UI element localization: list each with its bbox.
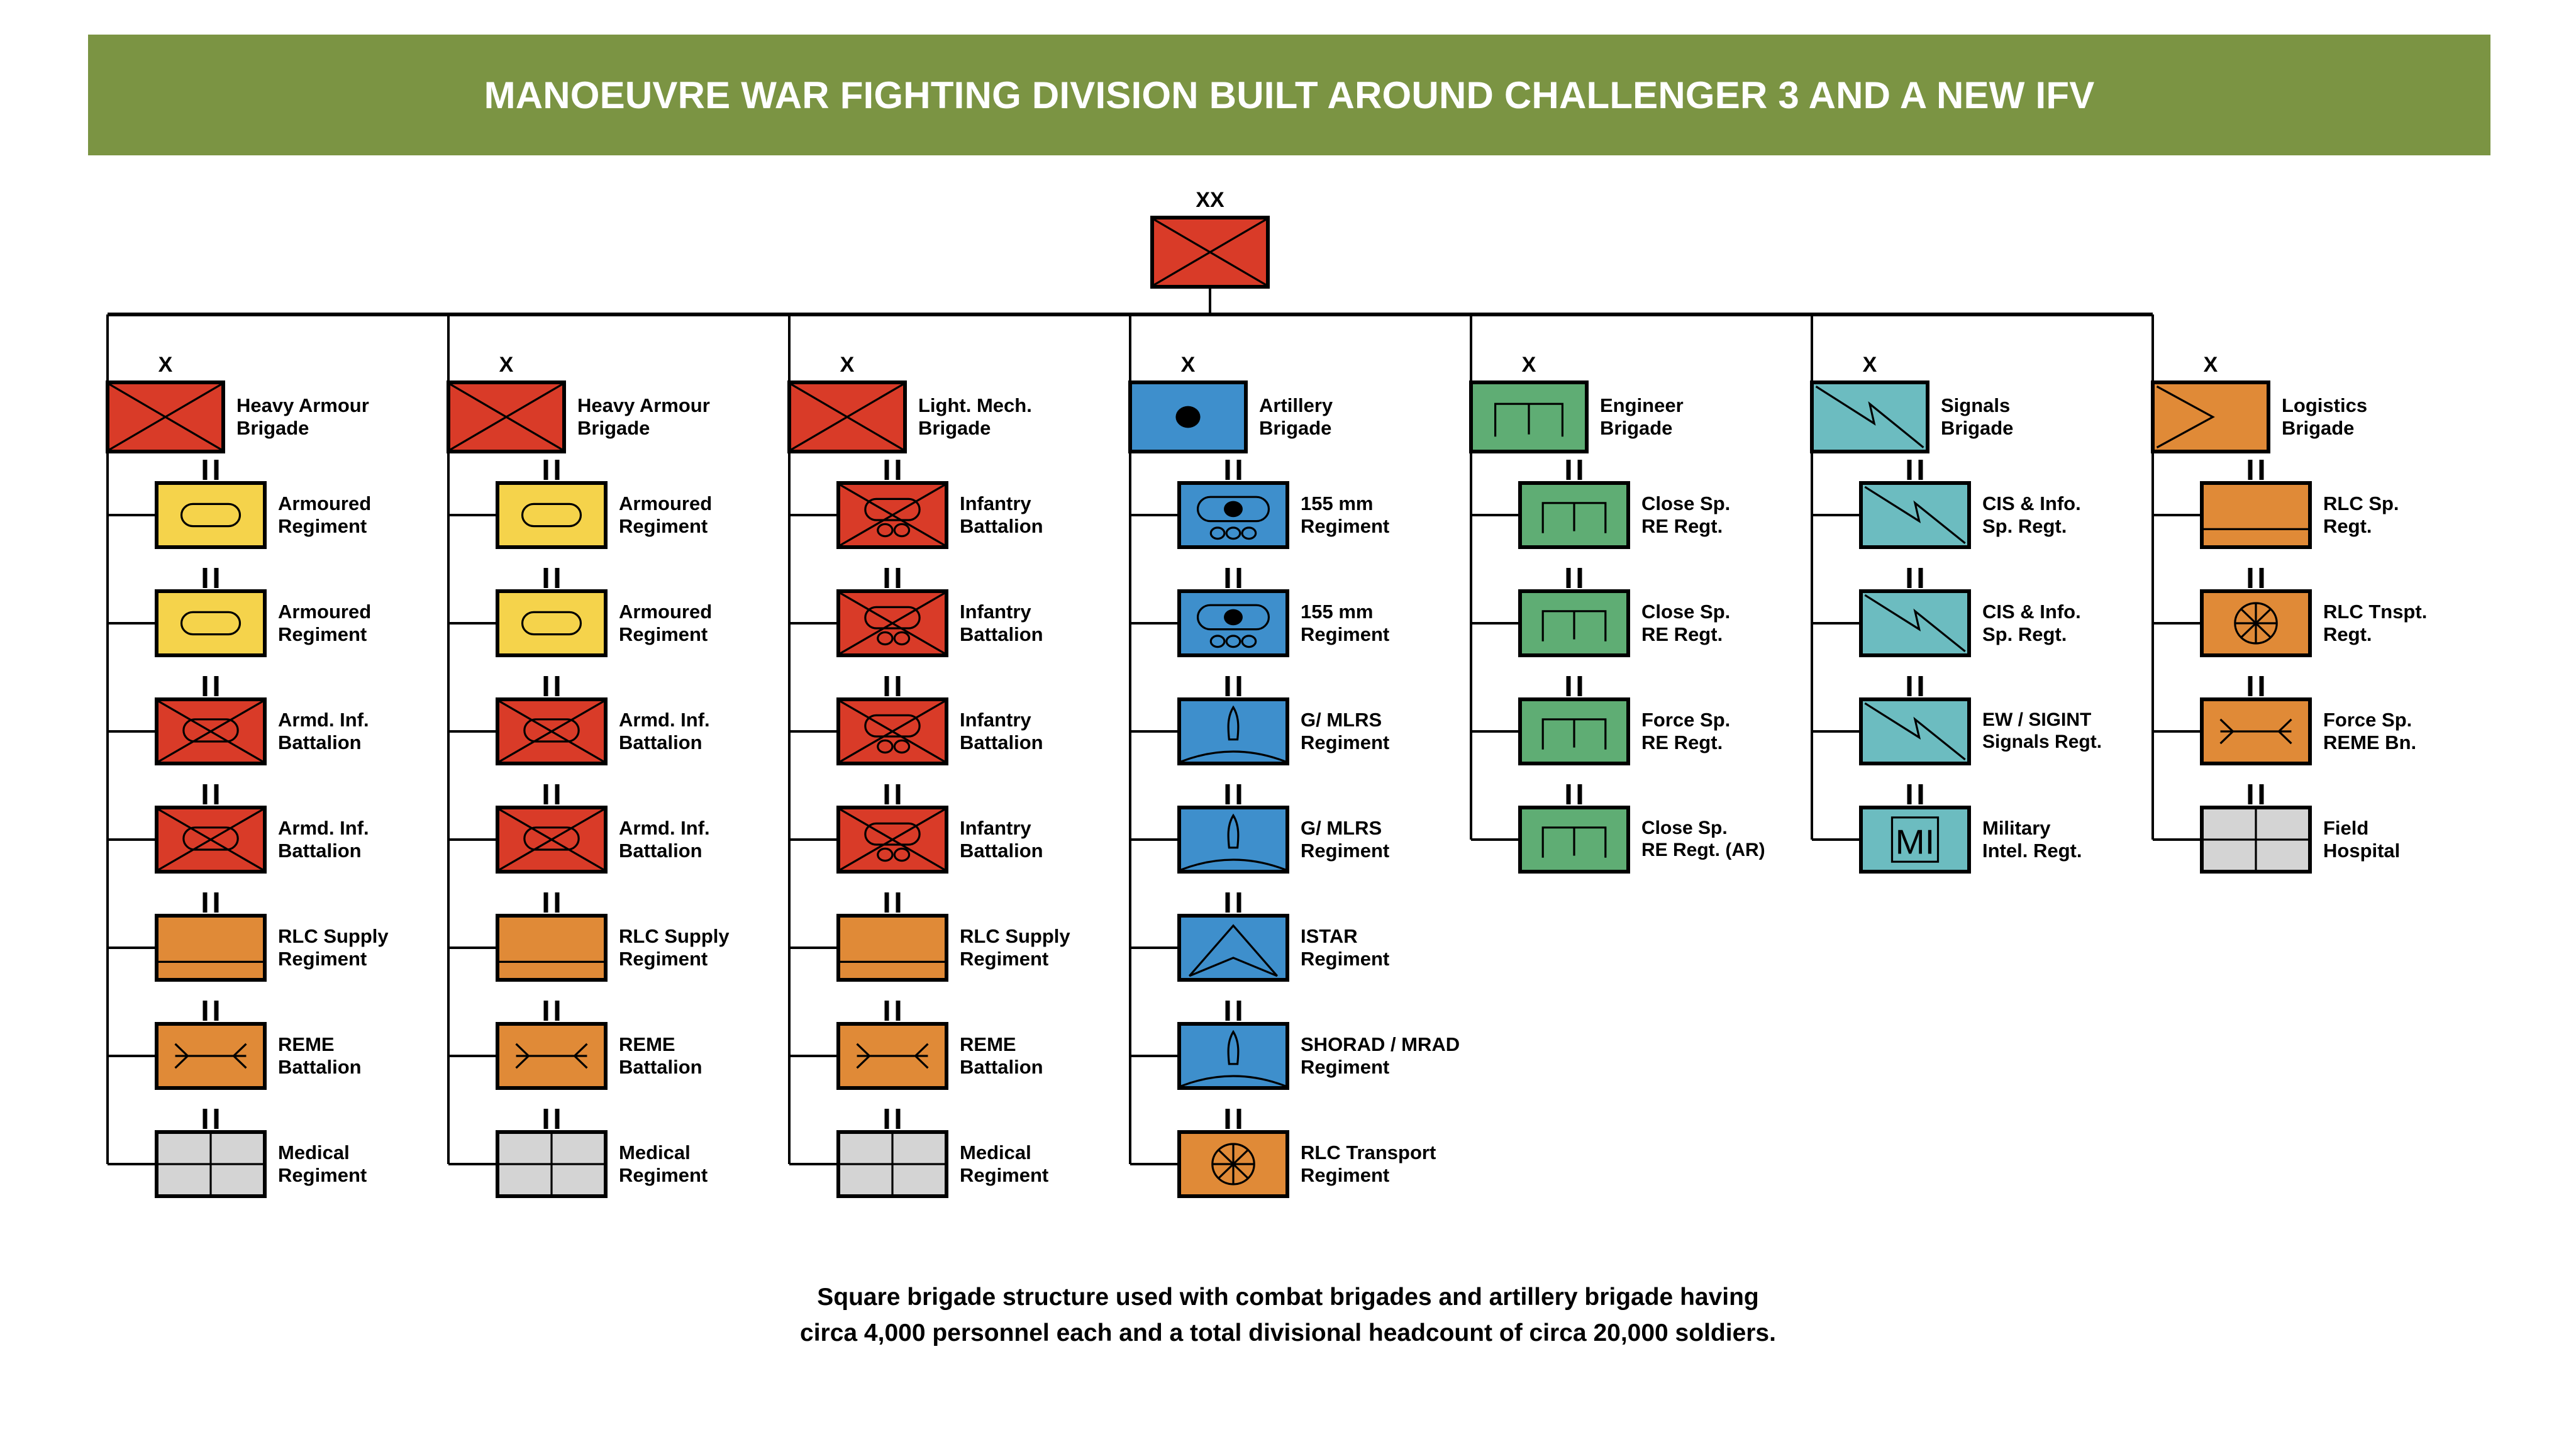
unit-2-4[interactable]: Armd. Inf.Battalion — [496, 806, 608, 874]
maintenance-icon — [496, 1022, 608, 1090]
unit-3-3[interactable]: InfantryBattalion — [836, 697, 948, 765]
svg-text:MI: MI — [1896, 823, 1935, 861]
echelon-marker-xx: XX — [1150, 189, 1270, 211]
mech-inf-wheel-icon — [836, 589, 948, 657]
unit-4-7[interactable]: RLC TransportRegiment — [1177, 1130, 1289, 1198]
unit-2-3-label: Armd. Inf.Battalion — [619, 709, 710, 754]
engineer-icon — [1518, 697, 1630, 765]
unit-7-1[interactable]: RLC Sp.Regt. — [2200, 481, 2312, 549]
unit-1-7[interactable]: MedicalRegiment — [155, 1130, 267, 1198]
echelon-bars-battalion — [2248, 568, 2264, 588]
brigade-header-5-label: EngineerBrigade — [1600, 394, 1684, 440]
brigade-header-6-label: SignalsBrigade — [1941, 394, 2013, 440]
echelon-bars-battalion — [1226, 892, 1241, 913]
unit-4-6-label: SHORAD / MRADRegiment — [1301, 1033, 1460, 1079]
division-headquarters[interactable]: XX — [1150, 216, 1270, 289]
rocket-icon — [1177, 1022, 1289, 1090]
unit-5-3[interactable]: Force Sp.RE Regt. — [1518, 697, 1630, 765]
mech-inf-wheel-icon — [836, 481, 948, 549]
armour-track-icon — [496, 589, 608, 657]
echelon-bars-battalion — [1226, 1001, 1241, 1021]
brigade-header-3[interactable]: XLight. Mech.Brigade — [787, 380, 907, 453]
unit-1-5[interactable]: RLC SupplyRegiment — [155, 914, 267, 982]
unit-3-6[interactable]: REMEBattalion — [836, 1022, 948, 1090]
echelon-bars-battalion — [203, 568, 219, 588]
brigade-header-6[interactable]: XSignalsBrigade — [1810, 380, 1929, 453]
unit-5-2[interactable]: Close Sp.RE Regt. — [1518, 589, 1630, 657]
unit-3-3-label: InfantryBattalion — [960, 709, 1043, 754]
echelon-bars-battalion — [885, 460, 901, 480]
echelon-bars-battalion — [203, 892, 219, 913]
unit-3-6-label: REMEBattalion — [960, 1033, 1043, 1079]
echelon-bars-battalion — [1907, 568, 1923, 588]
unit-7-1-label: RLC Sp.Regt. — [2323, 492, 2399, 538]
maintenance-icon — [836, 1022, 948, 1090]
org-chart: XXXHeavy ArmourBrigadeArmouredRegimentAr… — [0, 0, 2576, 1449]
unit-2-5[interactable]: RLC SupplyRegiment — [496, 914, 608, 982]
medical-icon — [496, 1130, 608, 1198]
echelon-bars-battalion — [1567, 676, 1582, 696]
armour-cross-icon — [447, 380, 566, 453]
unit-6-2-label: CIS & Info.Sp. Regt. — [1982, 601, 2081, 646]
unit-3-1[interactable]: InfantryBattalion — [836, 481, 948, 549]
armour-track-icon — [155, 481, 267, 549]
unit-3-5[interactable]: RLC SupplyRegiment — [836, 914, 948, 982]
brigade-header-1-label: Heavy ArmourBrigade — [236, 394, 369, 440]
echelon-bars-battalion — [203, 676, 219, 696]
armd-inf-icon — [155, 806, 267, 874]
unit-4-4-label: G/ MLRSRegiment — [1301, 817, 1389, 862]
unit-4-5[interactable]: ISTARRegiment — [1177, 914, 1289, 982]
engineer-icon — [1469, 380, 1589, 453]
unit-2-1[interactable]: ArmouredRegiment — [496, 481, 608, 549]
armour-cross-icon — [1150, 216, 1270, 289]
unit-6-1[interactable]: CIS & Info.Sp. Regt. — [1859, 481, 1971, 549]
brigade-header-4-label: ArtilleryBrigade — [1259, 394, 1333, 440]
brigade-header-5[interactable]: XEngineerBrigade — [1469, 380, 1589, 453]
unit-7-2-label: RLC Tnspt.Regt. — [2323, 601, 2427, 646]
echelon-marker-x: X — [787, 354, 907, 375]
brigade-header-1[interactable]: XHeavy ArmourBrigade — [106, 380, 225, 453]
unit-2-1-label: ArmouredRegiment — [619, 492, 712, 538]
unit-2-3[interactable]: Armd. Inf.Battalion — [496, 697, 608, 765]
brigade-header-7-label: LogisticsBrigade — [2282, 394, 2367, 440]
unit-5-1[interactable]: Close Sp.RE Regt. — [1518, 481, 1630, 549]
unit-6-4[interactable]: MIMilitaryIntel. Regt. — [1859, 806, 1971, 874]
echelon-bars-battalion — [1907, 784, 1923, 804]
unit-4-2-label: 155 mmRegiment — [1301, 601, 1389, 646]
supply-icon — [496, 914, 608, 982]
unit-1-4-label: Armd. Inf.Battalion — [278, 817, 369, 862]
echelon-bars-battalion — [1226, 568, 1241, 588]
unit-2-6[interactable]: REMEBattalion — [496, 1022, 608, 1090]
echelon-bars-battalion — [544, 1001, 560, 1021]
medical-icon — [2200, 806, 2312, 874]
unit-1-2-label: ArmouredRegiment — [278, 601, 371, 646]
unit-7-4-label: FieldHospital — [2323, 817, 2400, 862]
supply-icon — [2200, 481, 2312, 549]
echelon-bars-battalion — [203, 784, 219, 804]
unit-6-3[interactable]: EW / SIGINTSignals Regt. — [1859, 697, 1971, 765]
engineer-icon — [1518, 806, 1630, 874]
unit-4-4[interactable]: G/ MLRSRegiment — [1177, 806, 1289, 874]
signals-bolt-icon — [1859, 589, 1971, 657]
echelon-bars-battalion — [885, 1001, 901, 1021]
echelon-bars-battalion — [544, 784, 560, 804]
unit-1-5-label: RLC SupplyRegiment — [278, 925, 389, 970]
unit-6-2[interactable]: CIS & Info.Sp. Regt. — [1859, 589, 1971, 657]
sp-howitzer-icon — [1177, 589, 1289, 657]
unit-4-5-label: ISTARRegiment — [1301, 925, 1389, 970]
mil-intel-icon: MI — [1859, 806, 1971, 874]
signals-bolt-icon — [1859, 481, 1971, 549]
echelon-bars-battalion — [1907, 676, 1923, 696]
transport-wheel-icon — [2200, 589, 2312, 657]
echelon-bars-battalion — [544, 568, 560, 588]
unit-1-4[interactable]: Armd. Inf.Battalion — [155, 806, 267, 874]
echelon-bars-battalion — [1567, 568, 1582, 588]
armd-inf-icon — [496, 806, 608, 874]
unit-6-1-label: CIS & Info.Sp. Regt. — [1982, 492, 2081, 538]
armour-track-icon — [155, 589, 267, 657]
unit-2-7[interactable]: MedicalRegiment — [496, 1130, 608, 1198]
echelon-bars-battalion — [1567, 784, 1582, 804]
unit-4-1-label: 155 mmRegiment — [1301, 492, 1389, 538]
footer-line-2: circa 4,000 personnel each and a total d… — [0, 1316, 2576, 1352]
unit-4-3[interactable]: G/ MLRSRegiment — [1177, 697, 1289, 765]
armd-inf-icon — [155, 697, 267, 765]
unit-7-3[interactable]: Force Sp.REME Bn. — [2200, 697, 2312, 765]
unit-5-3-label: Force Sp.RE Regt. — [1641, 709, 1730, 754]
unit-3-5-label: RLC SupplyRegiment — [960, 925, 1070, 970]
unit-5-4-label: Close Sp.RE Regt. (AR) — [1641, 818, 1765, 862]
unit-3-1-label: InfantryBattalion — [960, 492, 1043, 538]
artillery-dot-icon — [1128, 380, 1248, 453]
echelon-marker-x: X — [106, 354, 225, 375]
mech-inf-wheel-icon — [836, 697, 948, 765]
echelon-marker-x: X — [1469, 354, 1589, 375]
sp-howitzer-icon — [1177, 481, 1289, 549]
echelon-bars-battalion — [885, 784, 901, 804]
echelon-bars-battalion — [203, 460, 219, 480]
engineer-icon — [1518, 589, 1630, 657]
unit-3-4-label: InfantryBattalion — [960, 817, 1043, 862]
medical-icon — [155, 1130, 267, 1198]
echelon-bars-battalion — [1226, 1109, 1241, 1129]
unit-1-1[interactable]: ArmouredRegiment — [155, 481, 267, 549]
brigade-header-2[interactable]: XHeavy ArmourBrigade — [447, 380, 566, 453]
signals-bolt-icon — [1859, 697, 1971, 765]
echelon-bars-battalion — [2248, 784, 2264, 804]
echelon-marker-x: X — [1128, 354, 1248, 375]
istar-chevron-icon — [1177, 914, 1289, 982]
brigade-header-3-label: Light. Mech.Brigade — [918, 394, 1032, 440]
rocket-icon — [1177, 806, 1289, 874]
armour-cross-icon — [106, 380, 225, 453]
signals-bolt-icon — [1810, 380, 1929, 453]
echelon-bars-battalion — [1907, 460, 1923, 480]
brigade-header-2-label: Heavy ArmourBrigade — [577, 394, 710, 440]
unit-3-7[interactable]: MedicalRegiment — [836, 1130, 948, 1198]
echelon-bars-battalion — [1567, 460, 1582, 480]
medical-icon — [836, 1130, 948, 1198]
unit-3-4[interactable]: InfantryBattalion — [836, 806, 948, 874]
echelon-bars-battalion — [2248, 676, 2264, 696]
unit-6-3-label: EW / SIGINTSignals Regt. — [1982, 709, 2102, 753]
unit-1-7-label: MedicalRegiment — [278, 1141, 367, 1187]
echelon-bars-battalion — [203, 1001, 219, 1021]
echelon-bars-battalion — [2248, 460, 2264, 480]
unit-4-3-label: G/ MLRSRegiment — [1301, 709, 1389, 754]
unit-1-1-label: ArmouredRegiment — [278, 492, 371, 538]
echelon-bars-battalion — [544, 1109, 560, 1129]
unit-1-6[interactable]: REMEBattalion — [155, 1022, 267, 1090]
unit-2-2[interactable]: ArmouredRegiment — [496, 589, 608, 657]
echelon-bars-battalion — [885, 676, 901, 696]
armour-track-icon — [496, 481, 608, 549]
echelon-bars-battalion — [1226, 460, 1241, 480]
maintenance-icon — [2200, 697, 2312, 765]
unit-5-2-label: Close Sp.RE Regt. — [1641, 601, 1730, 646]
echelon-bars-battalion — [544, 460, 560, 480]
echelon-bars-battalion — [544, 892, 560, 913]
unit-4-7-label: RLC TransportRegiment — [1301, 1141, 1436, 1187]
echelon-bars-battalion — [544, 676, 560, 696]
brigade-header-7[interactable]: XLogisticsBrigade — [2151, 380, 2270, 453]
unit-3-2-label: InfantryBattalion — [960, 601, 1043, 646]
brigade-header-4[interactable]: XArtilleryBrigade — [1128, 380, 1248, 453]
unit-1-2[interactable]: ArmouredRegiment — [155, 589, 267, 657]
unit-4-6[interactable]: SHORAD / MRADRegiment — [1177, 1022, 1289, 1090]
unit-7-3-label: Force Sp.REME Bn. — [2323, 709, 2416, 754]
armour-cross-icon — [787, 380, 907, 453]
supply-icon — [836, 914, 948, 982]
supply-icon — [155, 914, 267, 982]
unit-2-4-label: Armd. Inf.Battalion — [619, 817, 710, 862]
echelon-bars-battalion — [1226, 784, 1241, 804]
echelon-marker-x: X — [447, 354, 566, 375]
maintenance-icon — [155, 1022, 267, 1090]
unit-5-1-label: Close Sp.RE Regt. — [1641, 492, 1730, 538]
echelon-bars-battalion — [885, 568, 901, 588]
unit-2-5-label: RLC SupplyRegiment — [619, 925, 730, 970]
unit-2-2-label: ArmouredRegiment — [619, 601, 712, 646]
armd-inf-icon — [496, 697, 608, 765]
unit-3-7-label: MedicalRegiment — [960, 1141, 1048, 1187]
mech-inf-wheel-icon — [836, 806, 948, 874]
unit-7-4[interactable]: FieldHospital — [2200, 806, 2312, 874]
unit-7-2[interactable]: RLC Tnspt.Regt. — [2200, 589, 2312, 657]
unit-6-4-label: MilitaryIntel. Regt. — [1982, 817, 2082, 862]
engineer-icon — [1518, 481, 1630, 549]
logistics-arrow-icon — [2151, 380, 2270, 453]
unit-4-1[interactable]: 155 mmRegiment — [1177, 481, 1289, 549]
footer-caption: Square brigade structure used with comba… — [0, 1280, 2576, 1351]
unit-2-6-label: REMEBattalion — [619, 1033, 702, 1079]
echelon-bars-battalion — [885, 892, 901, 913]
rocket-icon — [1177, 697, 1289, 765]
echelon-bars-battalion — [885, 1109, 901, 1129]
echelon-bars-battalion — [1226, 676, 1241, 696]
unit-2-7-label: MedicalRegiment — [619, 1141, 708, 1187]
echelon-marker-x: X — [2151, 354, 2270, 375]
unit-5-4[interactable]: Close Sp.RE Regt. (AR) — [1518, 806, 1630, 874]
transport-wheel-icon — [1177, 1130, 1289, 1198]
echelon-bars-battalion — [203, 1109, 219, 1129]
unit-1-6-label: REMEBattalion — [278, 1033, 362, 1079]
unit-1-3-label: Armd. Inf.Battalion — [278, 709, 369, 754]
unit-1-3[interactable]: Armd. Inf.Battalion — [155, 697, 267, 765]
footer-line-1: Square brigade structure used with comba… — [0, 1280, 2576, 1316]
unit-3-2[interactable]: InfantryBattalion — [836, 589, 948, 657]
unit-4-2[interactable]: 155 mmRegiment — [1177, 589, 1289, 657]
echelon-marker-x: X — [1810, 354, 1929, 375]
